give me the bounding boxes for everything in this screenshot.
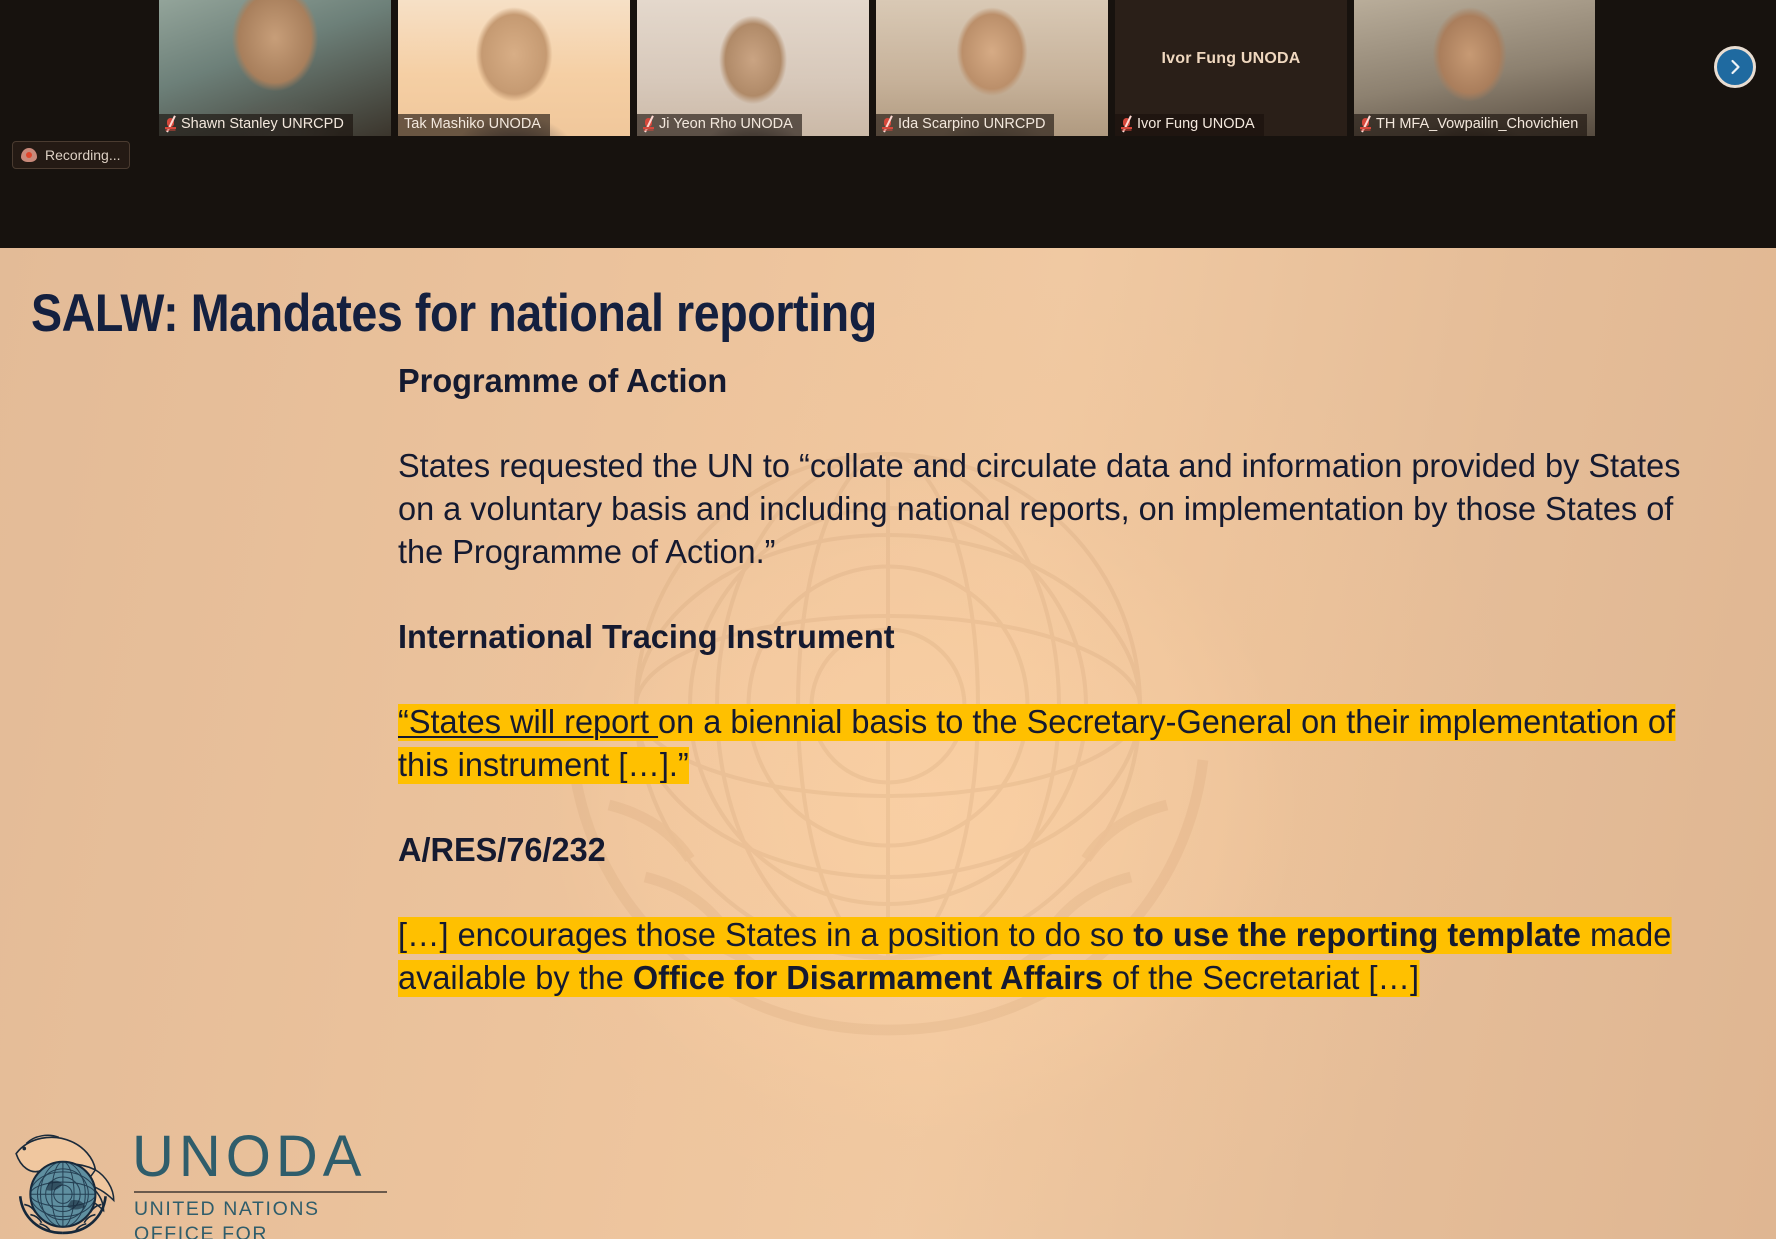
spacer xyxy=(398,872,1728,914)
mic-muted-icon xyxy=(1360,117,1371,132)
ares-part1: […] encourages those States in a positio… xyxy=(398,917,1133,954)
participant-name: TH MFA_Vowpailin_Chovichien xyxy=(1376,116,1578,133)
participant-tile[interactable]: Shawn Stanley UNRCPD xyxy=(159,0,391,136)
unoda-logo: UNODA UNITED NATIONS OFFICE FOR DISARMAM… xyxy=(8,1111,400,1239)
chevron-right-icon xyxy=(1725,57,1745,77)
shared-slide: SALW: Mandates for national reporting Pr… xyxy=(0,248,1776,1239)
participant-filmstrip: Shawn Stanley UNRCPD Tak Mashiko UNODA J… xyxy=(0,0,1776,136)
participant-tile[interactable]: Tak Mashiko UNODA xyxy=(398,0,630,136)
unoda-subtitle: UNITED NATIONS OFFICE FOR DISARMAMENT AF… xyxy=(134,1197,400,1239)
slide-title: SALW: Mandates for national reporting xyxy=(31,283,877,344)
participant-nameplate: Ida Scarpino UNRCPD xyxy=(876,114,1054,136)
ares-bold1: to use the reporting template xyxy=(1133,917,1581,954)
unoda-wordmark: UNODA xyxy=(132,1123,366,1190)
participant-name: Ida Scarpino UNRCPD xyxy=(898,116,1045,133)
participant-nameplate: Tak Mashiko UNODA xyxy=(398,114,550,136)
slide-body: Programme of Action States requested the… xyxy=(398,360,1728,1000)
participant-name: Ivor Fung UNODA xyxy=(1137,116,1255,133)
zoom-screenshare-window: Shawn Stanley UNRCPD Tak Mashiko UNODA J… xyxy=(0,0,1776,1239)
mic-muted-icon xyxy=(165,117,176,132)
participant-tile[interactable]: Ji Yeon Rho UNODA xyxy=(637,0,869,136)
participant-name: Ji Yeon Rho UNODA xyxy=(659,116,793,133)
logo-divider xyxy=(134,1191,387,1193)
participant-nameplate: TH MFA_Vowpailin_Chovichien xyxy=(1354,114,1587,136)
heading-programme-of-action: Programme of Action xyxy=(398,360,1688,403)
heading-international-tracing-instrument: International Tracing Instrument xyxy=(398,616,1688,659)
spacer xyxy=(398,574,1728,616)
spacer xyxy=(398,659,1728,701)
participant-nameplate: Shawn Stanley UNRCPD xyxy=(159,114,353,136)
participant-tile[interactable]: Ida Scarpino UNRCPD xyxy=(876,0,1108,136)
recording-label: Recording... xyxy=(45,147,120,163)
recording-indicator[interactable]: Recording... xyxy=(12,141,130,169)
participant-name-centered: Ivor Fung UNODA xyxy=(1115,50,1347,68)
recording-icon xyxy=(21,148,37,162)
heading-ares76232: A/RES/76/232 xyxy=(398,829,1688,872)
iti-underlined-phrase: “States will report xyxy=(398,704,658,741)
un-dove-globe-icon xyxy=(8,1117,130,1239)
participant-name: Tak Mashiko UNODA xyxy=(404,116,541,133)
spacer xyxy=(398,787,1728,829)
paragraph-iti-quote: “States will report on a biennial basis … xyxy=(398,701,1688,787)
paragraph-ares-quote: […] encourages those States in a positio… xyxy=(398,914,1688,1000)
participant-nameplate: Ivor Fung UNODA xyxy=(1115,114,1264,136)
participant-tile[interactable]: TH MFA_Vowpailin_Chovichien xyxy=(1354,0,1595,136)
participant-nameplate: Ji Yeon Rho UNODA xyxy=(637,114,802,136)
mic-muted-icon xyxy=(1121,117,1132,132)
participant-tile[interactable]: Ivor Fung UNODA Ivor Fung UNODA xyxy=(1115,0,1347,136)
mic-muted-icon xyxy=(882,117,893,132)
spacer xyxy=(398,403,1728,445)
participant-name: Shawn Stanley UNRCPD xyxy=(181,116,344,133)
mic-muted-icon xyxy=(643,117,654,132)
paragraph-poa-quote: States requested the UN to “collate and … xyxy=(398,445,1688,574)
ares-part3: of the Secretariat […] xyxy=(1103,960,1419,997)
unoda-subtitle-line1: UNITED NATIONS OFFICE FOR xyxy=(134,1197,400,1239)
next-participants-button[interactable] xyxy=(1714,46,1756,88)
ares-bold2: Office for Disarmament Affairs xyxy=(633,960,1103,997)
